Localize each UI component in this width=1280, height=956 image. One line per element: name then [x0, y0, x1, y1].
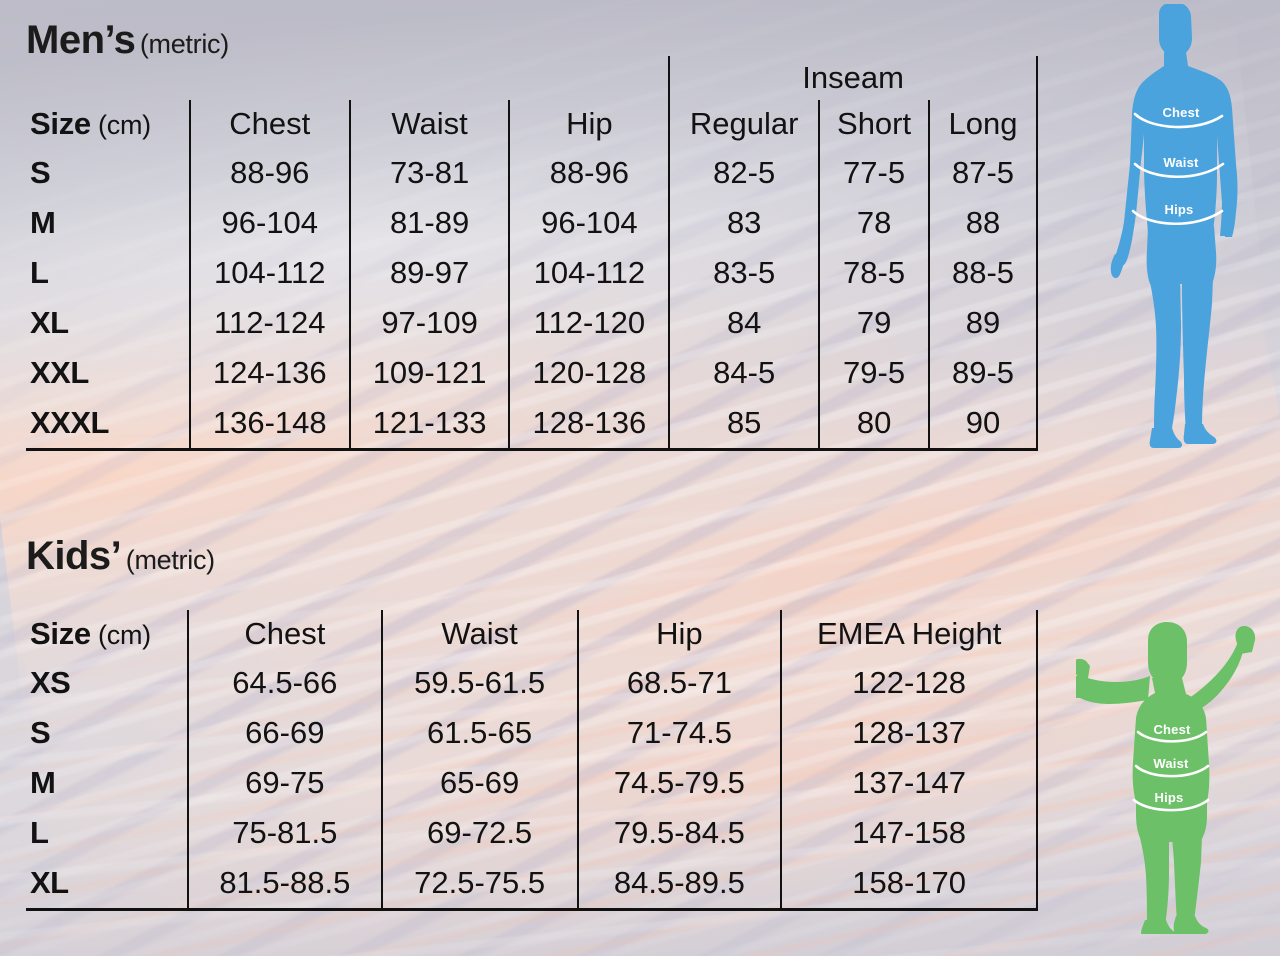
mens-inseam-regular-value: 84: [669, 298, 819, 348]
mens-col-header-hip: Hip: [509, 100, 669, 148]
kids-waist-value: 65-69: [382, 758, 578, 808]
adult-body-figure: Chest Waist Hips: [1086, 4, 1276, 450]
kids-height-value: 147-158: [781, 808, 1037, 858]
adult-silhouette-icon: [1086, 4, 1276, 450]
inseam-group-header: Inseam: [669, 56, 1037, 100]
kids-height-value: 122-128: [781, 658, 1037, 708]
mens-inseam-short-value: 77-5: [819, 148, 929, 198]
mens-inseam-short-value: 79-5: [819, 348, 929, 398]
child-chest-label: Chest: [1118, 722, 1226, 737]
mens-chest-value: 104-112: [190, 248, 350, 298]
child-body-figure: Chest Waist Hips: [1076, 614, 1276, 934]
mens-size-table: Inseam Size (cm) Chest Waist Hip Regular…: [26, 56, 1038, 451]
spacer-cell: [26, 56, 190, 100]
kids-section-title: Kids’ (metric): [26, 534, 215, 579]
table-row: S 66-69 61.5-65 71-74.5 128-137: [26, 708, 1037, 758]
spacer-cell: [190, 56, 350, 100]
kids-size-label: XL: [26, 858, 188, 910]
mens-header-row: Size (cm) Chest Waist Hip Regular Short …: [26, 100, 1037, 148]
kids-chest-value: 64.5-66: [188, 658, 382, 708]
kids-col-header-waist: Waist: [382, 610, 578, 658]
mens-waist-value: 73-81: [350, 148, 510, 198]
mens-col-header-long: Long: [929, 100, 1037, 148]
mens-hip-value: 104-112: [509, 248, 669, 298]
mens-inseam-regular-value: 83: [669, 198, 819, 248]
table-row: XXXL 136-148 121-133 128-136 85 80 90: [26, 398, 1037, 450]
table-row: XXL 124-136 109-121 120-128 84-5 79-5 89…: [26, 348, 1037, 398]
mens-inseam-short-value: 78-5: [819, 248, 929, 298]
mens-title-sub: (metric): [140, 29, 229, 59]
child-hips-label: Hips: [1115, 790, 1223, 805]
kids-height-value: 137-147: [781, 758, 1037, 808]
kids-header-row: Size (cm) Chest Waist Hip EMEA Height: [26, 610, 1037, 658]
kids-size-label: S: [26, 708, 188, 758]
kids-chest-value: 66-69: [188, 708, 382, 758]
kids-col-header-hip: Hip: [578, 610, 782, 658]
kids-waist-value: 59.5-61.5: [382, 658, 578, 708]
kids-size-label: L: [26, 808, 188, 858]
mens-chest-value: 124-136: [190, 348, 350, 398]
table-row: XL 112-124 97-109 112-120 84 79 89: [26, 298, 1037, 348]
kids-hip-value: 74.5-79.5: [578, 758, 782, 808]
mens-size-label: S: [26, 148, 190, 198]
mens-col-header-short: Short: [819, 100, 929, 148]
table-row: XL 81.5-88.5 72.5-75.5 84.5-89.5 158-170: [26, 858, 1037, 910]
adult-hips-label: Hips: [1124, 202, 1234, 217]
child-waist-label: Waist: [1117, 756, 1225, 771]
kids-title-main: Kids’: [26, 534, 121, 578]
kids-col-header-emea-height: EMEA Height: [781, 610, 1037, 658]
adult-chest-label: Chest: [1126, 105, 1236, 120]
mens-inseam-long-value: 90: [929, 398, 1037, 450]
table-row: L 75-81.5 69-72.5 79.5-84.5 147-158: [26, 808, 1037, 858]
kids-height-value: 158-170: [781, 858, 1037, 910]
mens-size-label: XL: [26, 298, 190, 348]
kids-size-label: XS: [26, 658, 188, 708]
mens-chest-value: 88-96: [190, 148, 350, 198]
kids-chest-value: 81.5-88.5: [188, 858, 382, 910]
mens-waist-value: 121-133: [350, 398, 510, 450]
size-chart-page: Men’s (metric) Inseam Size (cm) Chest: [0, 0, 1280, 956]
mens-size-unit-text: (cm): [98, 110, 151, 140]
mens-chest-value: 112-124: [190, 298, 350, 348]
table-row: XS 64.5-66 59.5-61.5 68.5-71 122-128: [26, 658, 1037, 708]
mens-inseam-regular-value: 83-5: [669, 248, 819, 298]
table-row: M 69-75 65-69 74.5-79.5 137-147: [26, 758, 1037, 808]
kids-waist-value: 69-72.5: [382, 808, 578, 858]
mens-col-header-waist: Waist: [350, 100, 510, 148]
table-row: S 88-96 73-81 88-96 82-5 77-5 87-5: [26, 148, 1037, 198]
mens-inseam-long-value: 87-5: [929, 148, 1037, 198]
mens-inseam-short-value: 78: [819, 198, 929, 248]
mens-size-header-unit: [91, 110, 98, 140]
mens-chest-value: 96-104: [190, 198, 350, 248]
kids-size-unit-text: (cm): [98, 620, 151, 650]
mens-waist-value: 81-89: [350, 198, 510, 248]
kids-hip-value: 79.5-84.5: [578, 808, 782, 858]
kids-title-sub: (metric): [126, 545, 215, 575]
mens-hip-value: 128-136: [509, 398, 669, 450]
kids-hip-value: 71-74.5: [578, 708, 782, 758]
mens-hip-value: 88-96: [509, 148, 669, 198]
kids-hip-value: 68.5-71: [578, 658, 782, 708]
kids-chest-value: 69-75: [188, 758, 382, 808]
kids-hip-value: 84.5-89.5: [578, 858, 782, 910]
kids-height-value: 128-137: [781, 708, 1037, 758]
mens-inseam-regular-value: 85: [669, 398, 819, 450]
mens-inseam-regular-value: 82-5: [669, 148, 819, 198]
mens-waist-value: 89-97: [350, 248, 510, 298]
mens-size-header-label: Size: [30, 106, 91, 141]
kids-col-header-chest: Chest: [188, 610, 382, 658]
mens-inseam-long-value: 89: [929, 298, 1037, 348]
mens-size-label: L: [26, 248, 190, 298]
mens-hip-value: 120-128: [509, 348, 669, 398]
kids-waist-value: 61.5-65: [382, 708, 578, 758]
kids-size-header: Size (cm): [26, 610, 188, 658]
mens-size-label: M: [26, 198, 190, 248]
mens-hip-value: 96-104: [509, 198, 669, 248]
mens-inseam-long-value: 89-5: [929, 348, 1037, 398]
mens-group-header-row: Inseam: [26, 56, 1037, 100]
child-silhouette-icon: [1076, 614, 1276, 934]
table-row: M 96-104 81-89 96-104 83 78 88: [26, 198, 1037, 248]
mens-inseam-long-value: 88: [929, 198, 1037, 248]
mens-inseam-regular-value: 84-5: [669, 348, 819, 398]
mens-waist-value: 109-121: [350, 348, 510, 398]
kids-size-label: M: [26, 758, 188, 808]
spacer-cell: [509, 56, 669, 100]
mens-hip-value: 112-120: [509, 298, 669, 348]
table-row: L 104-112 89-97 104-112 83-5 78-5 88-5: [26, 248, 1037, 298]
kids-waist-value: 72.5-75.5: [382, 858, 578, 910]
kids-size-header-label: Size: [30, 616, 91, 651]
mens-size-label: XXL: [26, 348, 190, 398]
mens-inseam-short-value: 80: [819, 398, 929, 450]
mens-inseam-short-value: 79: [819, 298, 929, 348]
adult-waist-label: Waist: [1126, 155, 1236, 170]
mens-col-header-regular: Regular: [669, 100, 819, 148]
mens-inseam-long-value: 88-5: [929, 248, 1037, 298]
kids-chest-value: 75-81.5: [188, 808, 382, 858]
mens-col-header-chest: Chest: [190, 100, 350, 148]
mens-size-label: XXXL: [26, 398, 190, 450]
mens-chest-value: 136-148: [190, 398, 350, 450]
kids-size-table: Size (cm) Chest Waist Hip EMEA Height XS…: [26, 610, 1038, 911]
mens-waist-value: 97-109: [350, 298, 510, 348]
spacer-cell: [350, 56, 510, 100]
kids-size-header-space: [91, 620, 98, 650]
mens-size-header: Size (cm): [26, 100, 190, 148]
